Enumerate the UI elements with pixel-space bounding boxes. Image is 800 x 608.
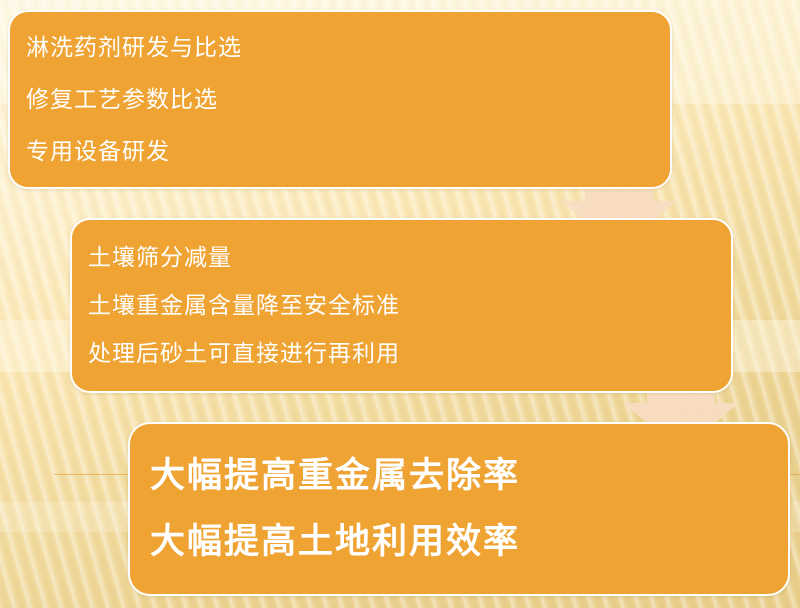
divider-line-right xyxy=(789,474,800,475)
results-box-lines: 土壤筛分减量 土壤重金属含量降至安全标准 处理后砂土可直接进行再利用 xyxy=(72,245,731,367)
slide-canvas: 淋洗药剂研发与比选 修复工艺参数比选 专用设备研发 土壤筛分减量 土壤重金属含量… xyxy=(0,0,800,608)
outcomes-box-lines: 大幅提高重金属去除率 大幅提高土地利用效率 xyxy=(130,456,788,562)
outcomes-line-1: 大幅提高重金属去除率 xyxy=(150,456,788,496)
process-box[interactable]: 淋洗药剂研发与比选 修复工艺参数比选 专用设备研发 xyxy=(8,10,672,189)
process-line-1: 淋洗药剂研发与比选 xyxy=(26,35,670,61)
divider-line-left xyxy=(54,474,130,475)
outcomes-line-2: 大幅提高土地利用效率 xyxy=(150,522,788,562)
process-line-2: 修复工艺参数比选 xyxy=(26,87,670,113)
results-line-1: 土壤筛分减量 xyxy=(88,245,731,271)
process-box-lines: 淋洗药剂研发与比选 修复工艺参数比选 专用设备研发 xyxy=(10,35,670,165)
results-line-2: 土壤重金属含量降至安全标准 xyxy=(88,293,731,319)
outcomes-box[interactable]: 大幅提高重金属去除率 大幅提高土地利用效率 xyxy=(128,422,790,596)
results-box[interactable]: 土壤筛分减量 土壤重金属含量降至安全标准 处理后砂土可直接进行再利用 xyxy=(70,218,733,393)
results-line-3: 处理后砂土可直接进行再利用 xyxy=(88,341,731,367)
process-line-3: 专用设备研发 xyxy=(26,139,670,165)
